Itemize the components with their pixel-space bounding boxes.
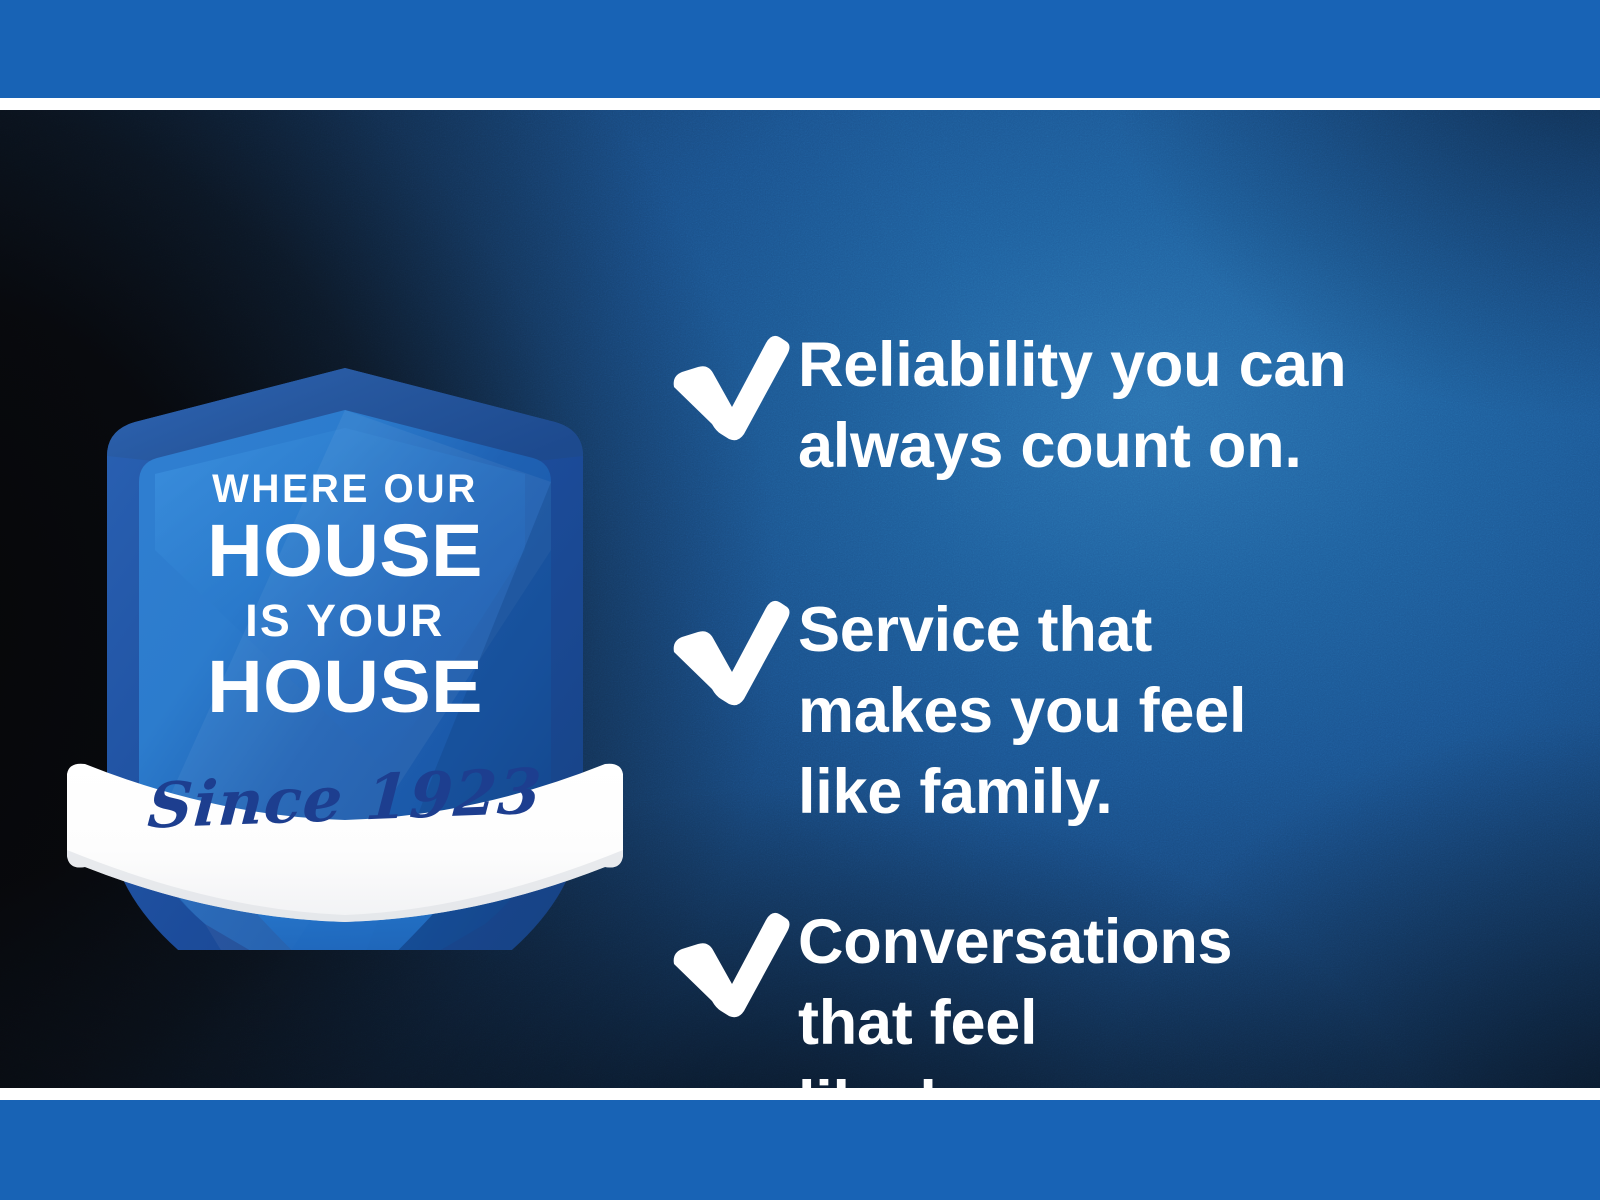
check-icon <box>668 325 798 441</box>
benefit-text: Conversations that feel like home. <box>798 902 1232 1088</box>
benefit-list: Reliability you can always count on. Ser… <box>668 220 1568 1088</box>
benefit-item: Conversations that feel like home. <box>668 902 1232 1088</box>
logo-line-house-2: HOUSE <box>43 650 646 724</box>
logo-line-is-your: IS YOUR <box>58 598 632 643</box>
benefit-item: Reliability you can always count on. <box>668 325 1346 487</box>
logo-line-house-1: HOUSE <box>43 514 646 588</box>
promo-banner: WHERE OUR HOUSE IS YOUR HOUSE Since 1923… <box>0 0 1600 1200</box>
check-icon <box>668 590 798 706</box>
company-logo: WHERE OUR HOUSE IS YOUR HOUSE Since 1923 <box>55 250 635 950</box>
check-icon <box>668 902 798 1018</box>
bottom-brand-bar <box>0 1100 1600 1200</box>
benefit-text: Reliability you can always count on. <box>798 325 1346 487</box>
logo-line-where-our: WHERE OUR <box>64 469 627 509</box>
content-panel: WHERE OUR HOUSE IS YOUR HOUSE Since 1923… <box>0 110 1600 1088</box>
benefit-item: Service that makes you feel like family. <box>668 590 1246 833</box>
top-brand-bar <box>0 0 1600 98</box>
benefit-text: Service that makes you feel like family. <box>798 590 1246 833</box>
